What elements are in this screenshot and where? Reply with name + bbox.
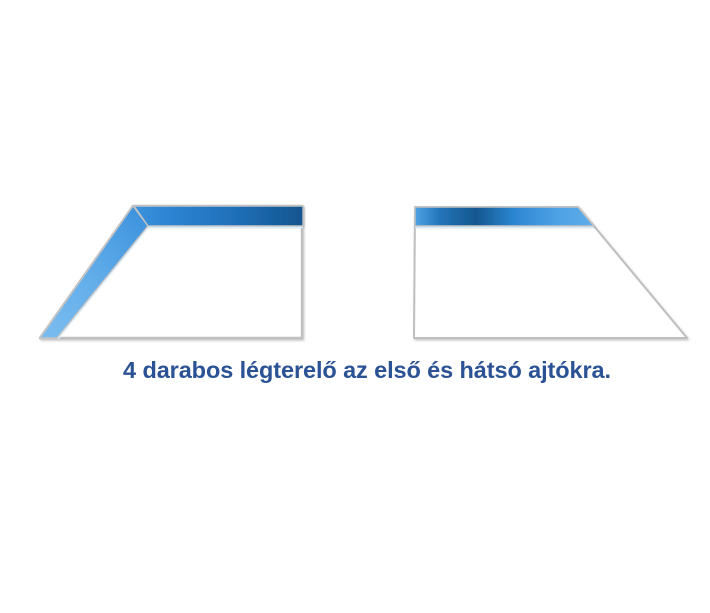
front-door-top-band xyxy=(134,206,303,226)
deflector-illustration: 4 darabos légterelő az első és hátsó ajt… xyxy=(0,0,710,613)
rear-door-deflector xyxy=(414,207,687,338)
product-figure: 4 darabos légterelő az első és hátsó ajt… xyxy=(0,0,710,613)
caption-text: 4 darabos légterelő az első és hátsó ajt… xyxy=(123,357,611,383)
front-door-deflector xyxy=(40,206,303,339)
rear-door-top-band xyxy=(415,207,594,226)
